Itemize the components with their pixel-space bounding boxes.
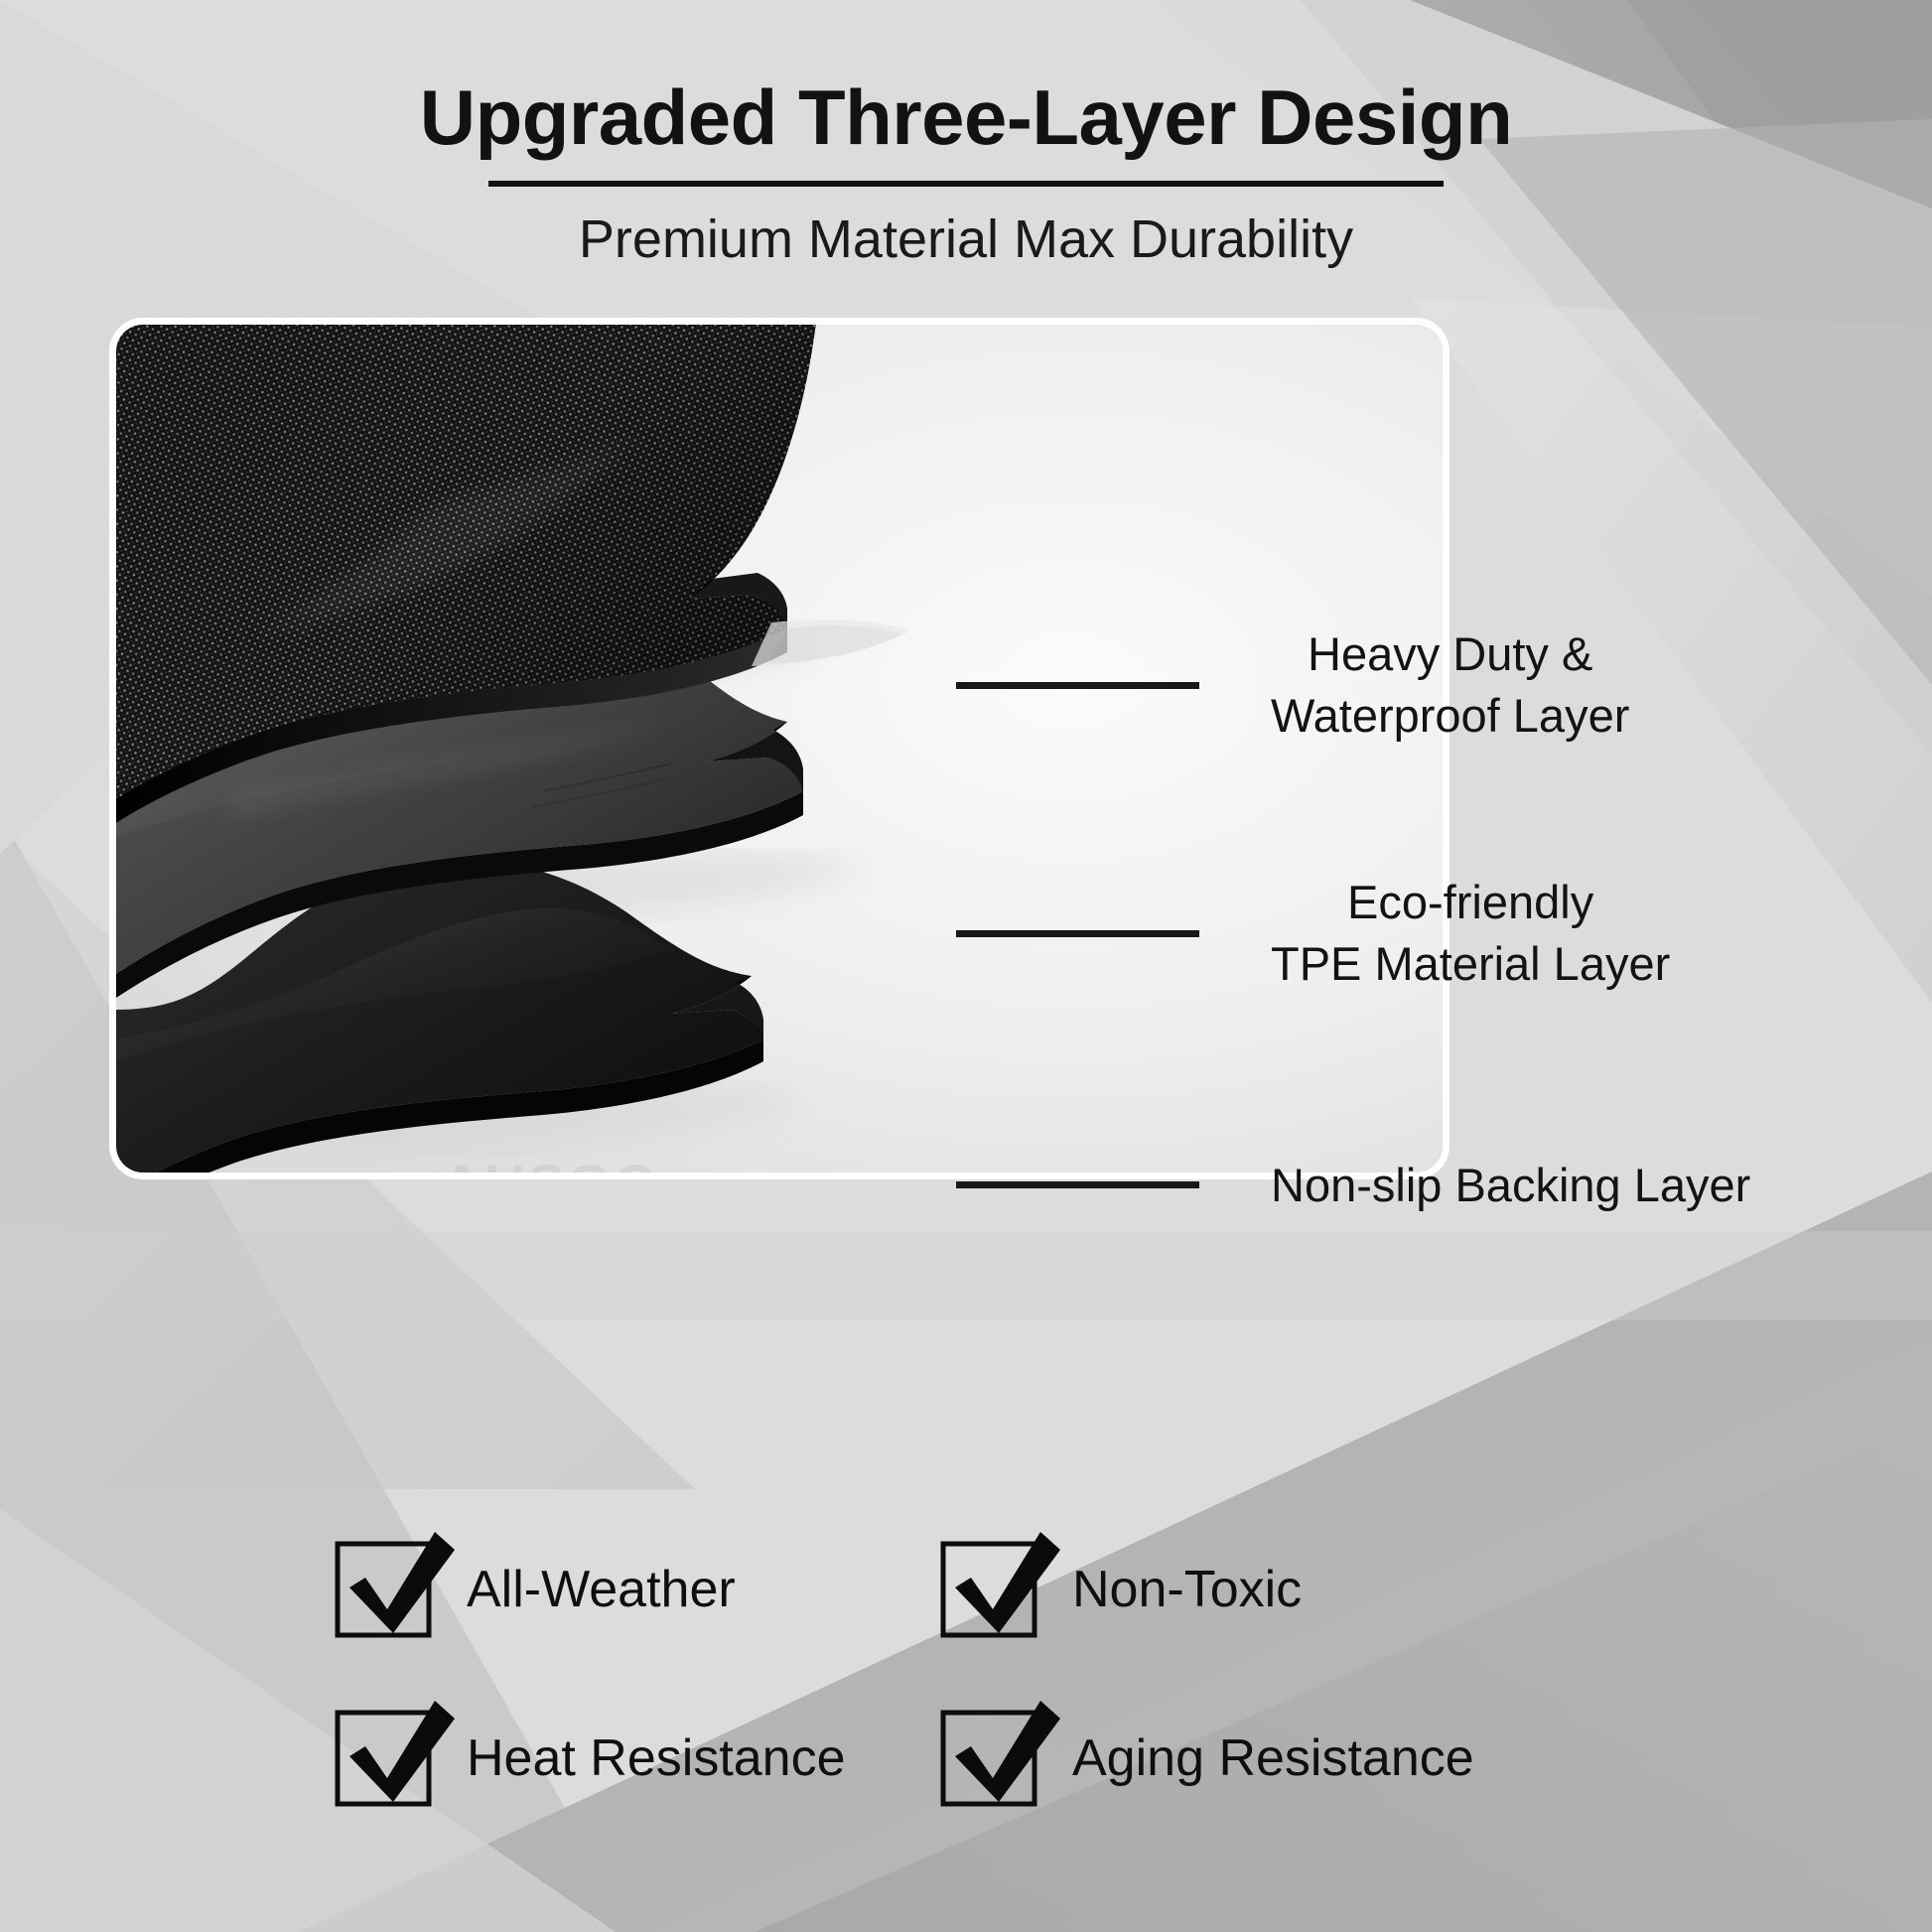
title-divider [488, 181, 1444, 187]
callout-text: Eco-friendly TPE Material Layer [1271, 872, 1670, 995]
checkbox-checked-icon [943, 1544, 1035, 1635]
callout-line-2: Waterproof Layer [1271, 685, 1629, 747]
callout-line-2: TPE Material Layer [1271, 933, 1670, 995]
feature-label: Non-Toxic [1072, 1564, 1302, 1615]
layered-mat-illustration [116, 325, 1443, 1173]
callout-heavy-duty-waterproof-layer: Heavy Duty & Waterproof Layer [956, 623, 1629, 747]
leader-line-icon [956, 1181, 1199, 1188]
checkbox-checked-icon [338, 1544, 429, 1635]
callout-line-1: Non-slip Backing Layer [1271, 1162, 1750, 1208]
callout-eco-friendly-tpe-material-layer: Eco-friendly TPE Material Layer [956, 872, 1670, 995]
feature-label: Heat Resistance [467, 1732, 846, 1784]
feature-item-aging-resistance: Aging Resistance [943, 1713, 1549, 1804]
page-title: Upgraded Three-Layer Design [0, 77, 1932, 159]
header: Upgraded Three-Layer Design Premium Mate… [0, 0, 1932, 269]
callout-line-1: Heavy Duty & [1271, 623, 1629, 685]
feature-item-all-weather: All-Weather [338, 1544, 943, 1635]
feature-checklist: All-Weather Non-Toxic Heat Resistance Ag… [0, 1544, 1932, 1804]
feature-item-heat-resistance: Heat Resistance [338, 1713, 943, 1804]
callout-non-slip-backing-layer: Non-slip Backing Layer [956, 1162, 1750, 1208]
callout-text: Heavy Duty & Waterproof Layer [1271, 623, 1629, 747]
feature-item-non-toxic: Non-Toxic [943, 1544, 1549, 1635]
feature-label: All-Weather [467, 1564, 736, 1615]
page-subtitle: Premium Material Max Durability [0, 210, 1932, 269]
leader-line-icon [956, 930, 1199, 937]
feature-label: Aging Resistance [1072, 1732, 1474, 1784]
checkbox-checked-icon [943, 1713, 1035, 1804]
callout-text: Non-slip Backing Layer [1271, 1162, 1750, 1208]
callout-line-1: Eco-friendly [1271, 872, 1670, 933]
leader-line-icon [956, 682, 1199, 689]
checkbox-checked-icon [338, 1713, 429, 1804]
product-layers-panel: AUSGO 4WD&ACCESSORIES [109, 318, 1449, 1179]
